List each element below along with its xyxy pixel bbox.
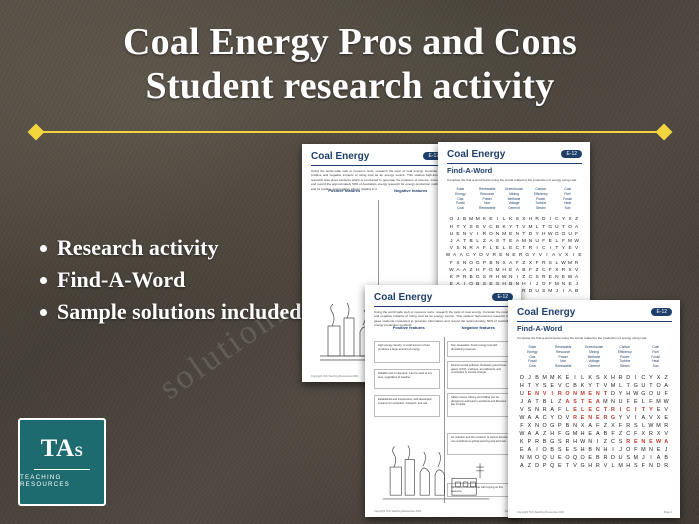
grid-cell: E (586, 406, 594, 414)
page-subtitle: Find-A-Word (508, 322, 680, 333)
grid-cell: B (573, 288, 580, 295)
grid-cell: G (547, 224, 554, 231)
grid-cell: O (564, 390, 572, 398)
grid-cell: O (560, 231, 567, 238)
grid-cell: N (554, 274, 561, 281)
grid-cell: R (461, 274, 468, 281)
table-header: Positive features Negative features (311, 188, 444, 193)
page-code-badge: E-12 (651, 308, 672, 316)
grid-cell: N (527, 238, 534, 245)
grid-cell: T (501, 238, 508, 245)
grid-cell: S (534, 274, 541, 281)
grid-cell: W (560, 260, 567, 267)
grid-cell: T (560, 224, 567, 231)
word-item: Coal (448, 206, 473, 211)
grid-cell: E (494, 245, 501, 252)
grid-cell: C (465, 252, 472, 259)
grid-cell: F (481, 267, 488, 274)
grid-cell: L (474, 238, 481, 245)
grid-cell: E (526, 390, 534, 398)
grid-cell: N (461, 231, 468, 238)
grid-cell: E (488, 216, 495, 223)
grid-cell: E (586, 454, 594, 462)
grid-cell: G (640, 390, 648, 398)
grid-cell: J (617, 446, 625, 454)
logo-rule (34, 469, 90, 470)
grid-cell: F (514, 260, 521, 267)
logo-text: TAS (41, 436, 84, 465)
bullet-label: Research activity (57, 233, 306, 263)
grid-cell: A (488, 238, 495, 245)
grid-cell: F (547, 267, 554, 274)
grid-cell: Y (534, 231, 541, 238)
grid-cell: M (567, 260, 574, 267)
grid-cell: M (548, 374, 556, 382)
grid-cell: X (526, 422, 534, 430)
grid-row: HTYSEVCBKYTVMLTGUTOA (508, 382, 680, 390)
grid-cell: B (541, 438, 549, 446)
grid-cell: Y (647, 406, 655, 414)
grid-cell: T (554, 245, 561, 252)
grid-cell: E (577, 252, 584, 259)
grid-cell: U (617, 454, 625, 462)
word-list-column: Renewable Resource Power Non Renewable (475, 187, 500, 210)
grid-cell: M (602, 398, 610, 406)
grid-row: AZDPQETVGHRVLMHSFNDR (508, 462, 680, 470)
grid-cell: K (579, 382, 587, 390)
grid-cell: A (526, 414, 534, 422)
grid-cell: H (548, 430, 556, 438)
grid-cell: N (586, 414, 594, 422)
grid-cell: B (662, 454, 670, 462)
grid-cell: A (586, 422, 594, 430)
grid-cell: A (455, 267, 462, 274)
grid-cell: K (507, 216, 514, 223)
grid-cell: M (541, 374, 549, 382)
grid-cell: I (474, 231, 481, 238)
grid-cell: V (537, 252, 544, 259)
grid-cell: G (474, 274, 481, 281)
grid-cell: O (567, 224, 574, 231)
grid-cell: E (547, 238, 554, 245)
grid-cell: E (547, 274, 554, 281)
grid-cell: A (514, 267, 521, 274)
word-list-column: Carbon Efficiency Power Turbine Steam (528, 187, 553, 210)
grid-cell: D (533, 462, 541, 470)
brand-logo: TAS TEACHING RESOURCES (18, 418, 106, 506)
grid-cell: R (564, 438, 572, 446)
grid-cell: J (554, 288, 561, 295)
grid-cell: C (564, 382, 572, 390)
grid-cell: M (547, 288, 554, 295)
grid-cell: H (624, 390, 632, 398)
grid-cell: F (518, 422, 526, 430)
grid-cell: A (533, 414, 541, 422)
grid-cell: M (526, 454, 534, 462)
grid-cell: T (640, 406, 648, 414)
grid-cell: O (624, 446, 632, 454)
grid-cell: H (586, 462, 594, 470)
grid-cell: V (484, 252, 491, 259)
grid-cell: J (573, 281, 580, 288)
grid-cell: U (548, 454, 556, 462)
grid-cell: D (609, 390, 617, 398)
grid-cell: R (594, 462, 602, 470)
grid-cell: T (521, 245, 528, 252)
grid-cell: F (609, 430, 617, 438)
grid-row: UENVIRONMENTDYHWGOUF (508, 390, 680, 398)
divider-bar (38, 131, 662, 133)
grid-cell: G (474, 260, 481, 267)
grid-cell: A (594, 430, 602, 438)
grid-cell: W (445, 252, 452, 259)
grid-cell: R (468, 245, 475, 252)
grid-cell: U (640, 382, 648, 390)
grid-cell: H (571, 438, 579, 446)
grid-cell: H (501, 267, 508, 274)
grid-cell: S (481, 274, 488, 281)
grid-cell: Y (548, 414, 556, 422)
grid-cell: W (501, 274, 508, 281)
grid-cell: A (461, 267, 468, 274)
grid-cell: U (518, 390, 526, 398)
grid-cell: L (501, 245, 508, 252)
grid-cell: Z (617, 430, 625, 438)
grid-cell: K (518, 438, 526, 446)
grid-cell: I (527, 281, 534, 288)
grid-cell: E (594, 414, 602, 422)
grid-cell: E (586, 390, 594, 398)
grid-cell: A (455, 238, 462, 245)
grid-cell: A (655, 454, 663, 462)
grid-cell: X (501, 260, 508, 267)
grid-cell: G (524, 252, 531, 259)
grid-cell: C (488, 224, 495, 231)
grid-cell: E (567, 245, 574, 252)
grid-cell: A (573, 274, 580, 281)
grid-row: UENVIRONMENTDYHWGOUF (438, 231, 590, 238)
grid-cell: L (554, 238, 561, 245)
grid-cell: I (617, 406, 625, 414)
grid-cell: O (448, 216, 455, 223)
grid-cell: F (556, 406, 564, 414)
grid-cell: R (560, 267, 567, 274)
grid-cell: F (547, 281, 554, 288)
grid-row: VSNRAFLELECTRICITYEV (508, 406, 680, 414)
grid-cell: M (617, 462, 625, 470)
grid-cell: S (455, 245, 462, 252)
word-item: Cement (580, 364, 609, 369)
grid-cell: M (468, 216, 475, 223)
grid-cell: X (554, 267, 561, 274)
grid-cell: P (541, 462, 549, 470)
column-header-negative: Negative features (378, 188, 445, 193)
grid-cell: X (579, 422, 587, 430)
grid-cell: N (571, 390, 579, 398)
grid-cell: K (586, 374, 594, 382)
grid-cell: U (534, 288, 541, 295)
column-header-negative: Negative features (444, 325, 514, 330)
grid-cell: N (461, 245, 468, 252)
grid-cell: Z (602, 438, 610, 446)
grid-cell: Z (534, 267, 541, 274)
grid-cell: B (468, 274, 475, 281)
word-list-column: Renewable Resource Power Non Renewable (549, 345, 578, 368)
grid-cell: S (571, 398, 579, 406)
grid-cell: R (556, 390, 564, 398)
grid-cell: X (609, 422, 617, 430)
page-heading: Coal Energy (517, 307, 575, 319)
grid-cell: W (448, 267, 455, 274)
grid-cell: H (624, 462, 632, 470)
grid-cell: V (602, 462, 610, 470)
grid-cell: X (602, 374, 610, 382)
grid-cell: F (573, 231, 580, 238)
bullet-label: Sample solutions included (57, 297, 306, 327)
grid-cell: X (655, 414, 663, 422)
grid-cell: I (571, 374, 579, 382)
grid-cell: B (571, 382, 579, 390)
grid-cell: I (632, 374, 640, 382)
grid-cell: W (518, 414, 526, 422)
grid-cell: R (521, 288, 528, 295)
grid-cell: W (647, 422, 655, 430)
grid-cell: E (564, 446, 572, 454)
grid-cell: O (564, 454, 572, 462)
grid-cell: E (564, 374, 572, 382)
grid-cell: K (448, 274, 455, 281)
grid-cell: A (548, 406, 556, 414)
grid-cell: H (448, 224, 455, 231)
page-heading: Coal Energy (374, 292, 432, 304)
word-item: Steam (528, 206, 553, 211)
grid-cell: S (556, 438, 564, 446)
grid-cell: C (514, 245, 521, 252)
grid-cell: S (632, 462, 640, 470)
grid-cell: N (514, 231, 521, 238)
grid-cell: E (507, 267, 514, 274)
grid-cell: J (662, 446, 670, 454)
grid-cell: K (501, 224, 508, 231)
grid-cell: V (647, 414, 655, 422)
feature-list: Research activity Find-A-Word Sample sol… (36, 233, 306, 329)
grid-cell: M (527, 224, 534, 231)
grid-row: JATBLZASTEAMNUFELFMW (508, 398, 680, 406)
grid-cell: L (640, 398, 648, 406)
grid-row: WAACYOVRENERGYVIAVXIE (438, 252, 590, 259)
grid-cell: Z (556, 398, 564, 406)
grid-cell: D (655, 462, 663, 470)
grid-cell: B (533, 374, 541, 382)
grid-row: JATBLZASTEAMNUFELFMW (438, 238, 590, 245)
grid-cell: E (455, 231, 462, 238)
word-item: Cement (502, 206, 527, 211)
grid-cell: V (448, 245, 455, 252)
grid-cell: A (526, 446, 534, 454)
grid-cell: R (662, 462, 670, 470)
grid-cell: Z (541, 430, 549, 438)
grid-cell: C (640, 374, 648, 382)
grid-cell: O (478, 252, 485, 259)
grid-cell: N (609, 398, 617, 406)
diamond-left-icon (28, 124, 45, 141)
grid-cell: I (560, 288, 567, 295)
grid-cell: M (655, 398, 663, 406)
grid-cell: S (617, 438, 625, 446)
grid-cell: N (507, 274, 514, 281)
grid-cell: R (517, 252, 524, 259)
grid-cell: G (632, 382, 640, 390)
product-cover: Coal Energy Pros and Cons Student resear… (0, 0, 699, 524)
grid-cell: Z (481, 238, 488, 245)
grid-cell: O (556, 414, 564, 422)
grid-cell: Q (541, 454, 549, 462)
grid-cell: W (518, 430, 526, 438)
grid-cell: T (602, 406, 610, 414)
grid-cell: E (498, 252, 505, 259)
grid-cell: Z (602, 422, 610, 430)
grid-cell: R (533, 438, 541, 446)
grid-cell: C (624, 406, 632, 414)
grid-cell: P (526, 438, 534, 446)
grid-cell: N (586, 438, 594, 446)
grid-cell: E (560, 274, 567, 281)
word-list-column: Greenhouse Mining Methane Voltage Cement (580, 345, 609, 368)
grid-cell: C (540, 245, 547, 252)
grid-cell: R (662, 422, 670, 430)
grid-cell: S (624, 454, 632, 462)
grid-cell: X (455, 260, 462, 267)
page-footer: Copyright TAS Teaching Resources 2021 Pa… (517, 511, 672, 514)
grid-cell: D (527, 231, 534, 238)
grid-cell: H (540, 231, 547, 238)
grid-cell: H (602, 446, 610, 454)
grid-cell: T (526, 382, 534, 390)
grid-cell: B (494, 224, 501, 231)
grid-cell: G (548, 422, 556, 430)
page-title: Coal Energy Pros and Cons Student resear… (40, 20, 660, 108)
grid-cell: R (573, 260, 580, 267)
grid-cell: J (526, 374, 534, 382)
grid-cell: Q (548, 462, 556, 470)
grid-cell: O (540, 281, 547, 288)
grid-cell: F (560, 238, 567, 245)
grid-cell: M (579, 390, 587, 398)
word-search-grid: OJBMMKEILKSXHRDICYXZHTYSEVCBKYTVMLTGUTOA… (438, 216, 590, 295)
answer-negative-3: Safety issues: Mining and drilling can b… (447, 393, 513, 417)
grid-cell: N (571, 422, 579, 430)
grid-cell: C (609, 438, 617, 446)
grid-cell: O (533, 454, 541, 462)
grid-cell: L (579, 406, 587, 414)
grid-cell: A (526, 398, 534, 406)
grid-cell: T (564, 462, 572, 470)
grid-cell: N (640, 438, 648, 446)
grid-cell: S (526, 406, 534, 414)
grid-cell: C (624, 430, 632, 438)
word-list-column: Greenhouse Mining Methane Voltage Cement (502, 187, 527, 210)
grid-cell: A (474, 245, 481, 252)
grid-cell: L (548, 398, 556, 406)
grid-row: WAACYOVRENERGYVIAVXE (508, 414, 680, 422)
grid-cell: X (567, 267, 574, 274)
grid-cell: M (494, 267, 501, 274)
grid-cell: W (567, 274, 574, 281)
grid-cell: X (521, 216, 528, 223)
grid-cell: A (518, 462, 526, 470)
grid-cell: S (594, 374, 602, 382)
word-list-column: Coal Fuel Fossil Heat Sun (555, 187, 580, 210)
page-heading: Coal Energy (447, 149, 505, 161)
grid-cell: U (554, 224, 561, 231)
grid-cell: V (541, 390, 549, 398)
page-header: Coal Energy E-12 (438, 142, 590, 161)
word-item: Sun (555, 206, 580, 211)
grid-cell: W (632, 390, 640, 398)
grid-cell: R (602, 454, 610, 462)
grid-cell: N (647, 462, 655, 470)
grid-cell: P (556, 422, 564, 430)
grid-cell: Z (468, 267, 475, 274)
solution-page-research: Coal Energy E-12 Using the world wide we… (365, 285, 521, 517)
grid-cell: N (504, 252, 511, 259)
grid-cell: Y (647, 374, 655, 382)
grid-cell: S (540, 288, 547, 295)
grid-cell: F (540, 238, 547, 245)
grid-cell: G (609, 414, 617, 422)
grid-cell: V (521, 224, 528, 231)
grid-cell: U (448, 231, 455, 238)
grid-cell: E (474, 224, 481, 231)
grid-cell: U (567, 231, 574, 238)
grid-cell: S (571, 446, 579, 454)
grid-cell: E (507, 245, 514, 252)
grid-cell: F (527, 267, 534, 274)
footer-copyright: Copyright TAS Teaching Resources 2021 (517, 511, 564, 514)
grid-cell: A (451, 252, 458, 259)
footer-copyright: Copyright TAS Teaching Resources 2021 (374, 510, 421, 513)
grid-cell: V (556, 382, 564, 390)
grid-cell: V (518, 406, 526, 414)
grid-cell: I (534, 245, 541, 252)
grid-cell: E (556, 454, 564, 462)
word-item: Renewable (549, 364, 578, 369)
grid-cell: H (527, 216, 534, 223)
grid-cell: F (448, 260, 455, 267)
grid-cell: N (647, 446, 655, 454)
grid-cell: E (579, 414, 587, 422)
grid-cell: N (494, 260, 501, 267)
grid-cell: X (655, 430, 663, 438)
grid-cell: A (458, 252, 465, 259)
grid-cell: C (541, 414, 549, 422)
bullet-dot-icon (40, 309, 47, 316)
grid-cell: N (533, 406, 541, 414)
grid-cell: W (579, 438, 587, 446)
grid-cell: T (602, 390, 610, 398)
grid-cell: E (511, 252, 518, 259)
page-subtitle: Find-A-Word (438, 164, 590, 175)
grid-cell: J (455, 216, 462, 223)
grid-row: HTYSEVCBKYTVMLTGUTOA (438, 224, 590, 231)
grid-row: WAAZHFGMHEABFZCFXRXV (508, 430, 680, 438)
grid-cell: R (609, 406, 617, 414)
grid-cell: W (655, 438, 663, 446)
grid-cell: R (541, 406, 549, 414)
grid-cell: Z (662, 374, 670, 382)
grid-cell: M (521, 238, 528, 245)
grid-cell: V (573, 245, 580, 252)
